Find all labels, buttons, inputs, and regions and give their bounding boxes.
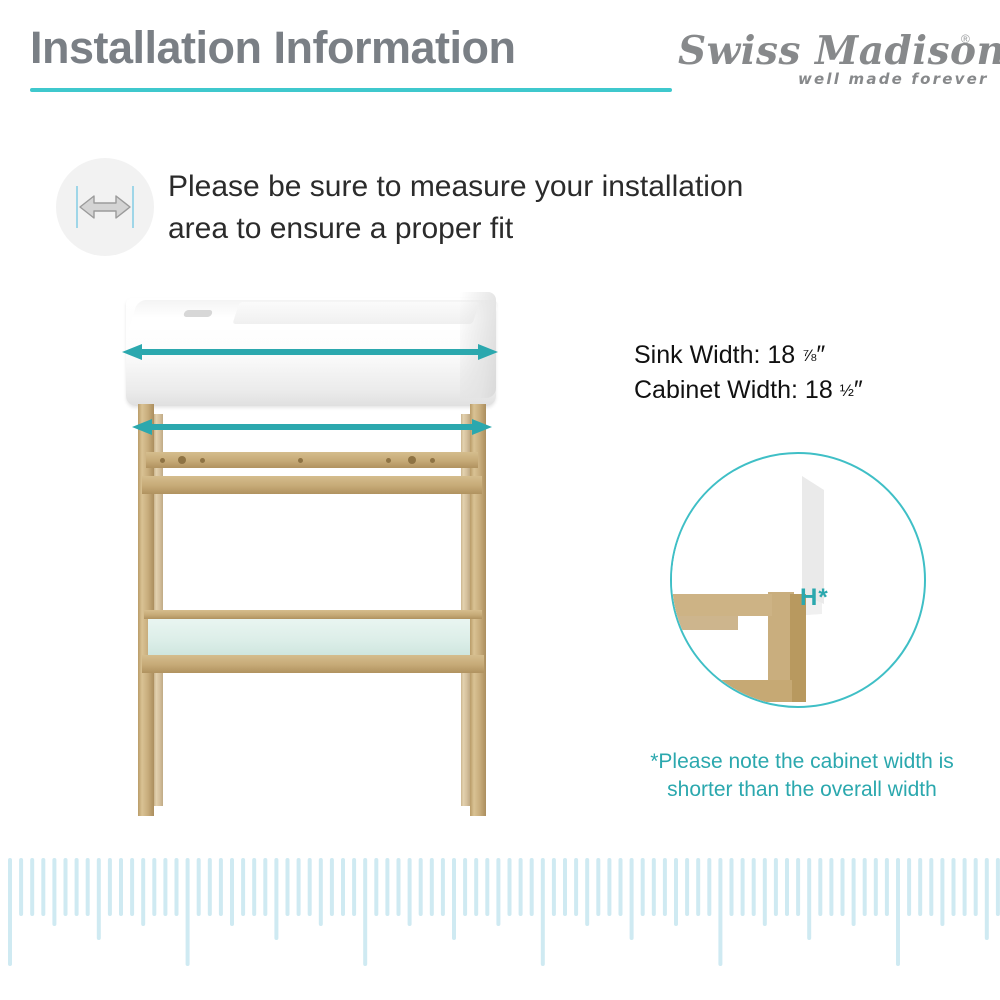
dimension-labels: Sink Width: 18 ⅞″ Cabinet Width: 18 ½″ xyxy=(634,338,863,408)
registered-trademark-icon: ® xyxy=(961,32,970,46)
brand-name: Swiss Madison xyxy=(678,28,968,74)
mounting-hole xyxy=(178,456,186,464)
mounting-hole xyxy=(408,456,416,464)
corner-detail-circle xyxy=(670,452,926,708)
cabinet-width-title: Cabinet Width: xyxy=(634,376,798,404)
mounting-hole xyxy=(430,458,435,463)
mounting-hole xyxy=(298,458,303,463)
sink-width-fraction: ⅞ xyxy=(802,346,816,365)
sink-bowl xyxy=(232,302,479,324)
double-arrow-measure-icon xyxy=(56,158,154,256)
sink-width-whole: 18 xyxy=(767,341,795,369)
bottom-rail xyxy=(142,655,484,673)
cabinet-width-footnote: *Please note the cabinet width is shorte… xyxy=(626,748,978,804)
vanity-product-illustration xyxy=(118,286,518,816)
cabinet-width-label: Cabinet Width: 18 ½″ xyxy=(634,373,863,408)
glass-shelf xyxy=(148,619,470,655)
title-divider xyxy=(30,88,672,92)
mounting-hole xyxy=(386,458,391,463)
ruler-ticks xyxy=(0,848,1000,968)
cabinet-width-arrow xyxy=(132,419,492,433)
ruler-decoration xyxy=(0,848,1000,968)
cabinet-width-whole: 18 xyxy=(805,376,833,404)
mounting-rail xyxy=(146,452,478,468)
measure-instruction-text: Please be sure to measure your installat… xyxy=(168,166,768,250)
brand-logo: Swiss Madison ® well made forever xyxy=(678,28,978,90)
mounting-hole xyxy=(160,458,165,463)
faucet-hole xyxy=(183,310,213,317)
cabinet-width-fraction: ½ xyxy=(840,381,854,400)
sink-width-label: Sink Width: 18 ⅞″ xyxy=(634,338,863,373)
installation-information-page: Installation Information Swiss Madison ®… xyxy=(0,0,1000,1000)
brand-tagline: well made forever xyxy=(798,70,989,88)
sink-width-title: Sink Width: xyxy=(634,341,760,369)
sink-width-unit: ″ xyxy=(816,341,825,369)
upper-cross-rail xyxy=(142,476,482,494)
detail-dimension-marker: H* xyxy=(800,584,829,612)
cabinet-width-unit: ″ xyxy=(854,376,863,404)
mounting-hole xyxy=(200,458,205,463)
page-title: Installation Information xyxy=(30,22,516,74)
shelf-support-rail xyxy=(144,610,482,619)
sink-width-arrow xyxy=(122,344,498,358)
